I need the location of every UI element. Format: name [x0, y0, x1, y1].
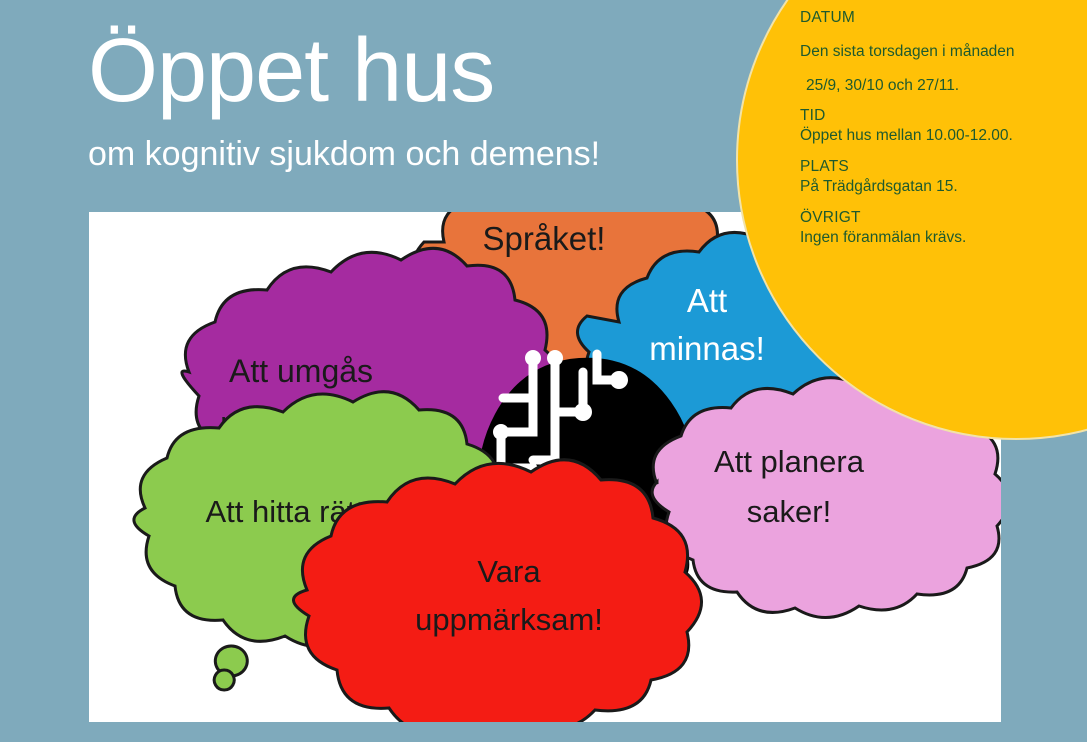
info-group-tid: TID Öppet hus mellan 10.00-12.00.	[800, 106, 1087, 146]
headline-block: Öppet hus om kognitiv sjukdom och demens…	[88, 26, 600, 173]
bubble-minnas-label-1: Att	[687, 282, 727, 319]
info-panel: DATUM Den sista torsdagen i månaden 25/9…	[800, 8, 1087, 247]
page-subtitle: om kognitiv sjukdom och demens!	[88, 136, 600, 173]
bubble-hitta-tail-small	[214, 670, 234, 690]
info-group-plats: PLATS På Trädgårdsgatan 15.	[800, 157, 1087, 197]
info-value-plats: På Trädgårdsgatan 15.	[800, 177, 1087, 197]
info-value-tid: Öppet hus mellan 10.00-12.00.	[800, 126, 1087, 146]
bubble-sprak-label-1: Språket!	[483, 220, 606, 257]
bubble-uppmark-label-1: Vara	[477, 554, 541, 589]
info-label-ovrigt: ÖVRIGT	[800, 208, 1087, 228]
info-value-datum-line1: Den sista torsdagen i månaden	[800, 42, 1087, 62]
bubble-umgas-label-1: Att umgås	[229, 353, 373, 389]
bubble-planera-label-1: Att planera	[714, 444, 865, 479]
page-title: Öppet hus	[88, 26, 600, 118]
bubble-planera-label-2: saker!	[747, 494, 831, 529]
bubble-minnas-label-2: minnas!	[649, 330, 765, 367]
info-group-datum: DATUM Den sista torsdagen i månaden 25/9…	[800, 8, 1087, 95]
info-value-datum-line2: 25/9, 30/10 och 27/11.	[800, 76, 1087, 96]
poster-canvas: Öppet hus om kognitiv sjukdom och demens…	[0, 0, 1087, 742]
info-group-ovrigt: ÖVRIGT Ingen föranmälan krävs.	[800, 208, 1087, 248]
info-label-datum: DATUM	[800, 8, 1087, 28]
info-label-tid: TID	[800, 106, 1087, 126]
bubble-uppmark-label-2: uppmärksam!	[415, 602, 603, 637]
info-value-ovrigt: Ingen föranmälan krävs.	[800, 228, 1087, 248]
info-label-plats: PLATS	[800, 157, 1087, 177]
